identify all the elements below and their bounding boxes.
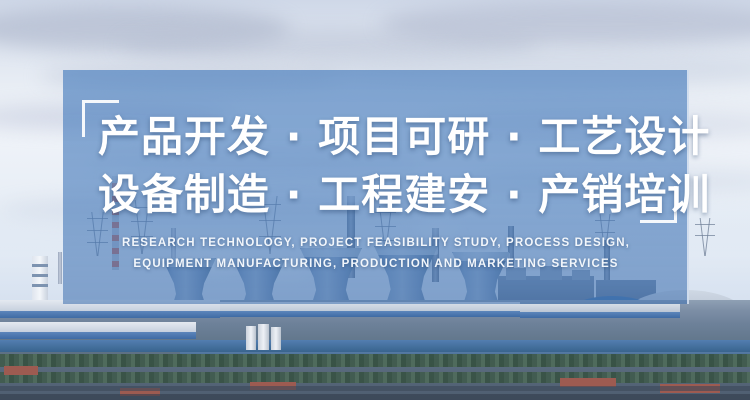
silo <box>246 326 256 350</box>
factory-roof-blue <box>0 311 220 318</box>
tower-band <box>32 284 48 287</box>
silo <box>258 324 269 350</box>
red-roof-building <box>4 366 38 375</box>
subtitle: RESEARCH TECHNOLOGY, PROJECT FEASIBILITY… <box>120 233 632 275</box>
headline-line-1: 产品开发 · 项目可研 · 工艺设计 <box>98 108 668 166</box>
smokestack <box>58 252 62 284</box>
tree-line <box>0 354 750 367</box>
tower-band <box>32 274 48 277</box>
factory-roof-blue <box>220 311 520 317</box>
factory-roof-blue <box>0 332 196 339</box>
silo <box>271 327 281 350</box>
tower-band <box>32 264 48 267</box>
headline: 产品开发 · 项目可研 · 工艺设计 设备制造 · 工程建安 · 产销培训 <box>98 108 668 224</box>
factory-roof <box>0 322 196 332</box>
factory-roof <box>520 304 680 312</box>
power-pylon-icon <box>700 218 710 256</box>
headline-line-2: 设备制造 · 工程建安 · 产销培训 <box>98 166 668 224</box>
road-strip <box>0 386 750 391</box>
yard-band <box>0 340 750 352</box>
road-strip <box>0 394 750 400</box>
tree-line <box>0 372 750 383</box>
hero-banner: 产品开发 · 项目可研 · 工艺设计 设备制造 · 工程建安 · 产销培训 RE… <box>0 0 750 400</box>
factory-roof-blue <box>520 312 680 318</box>
